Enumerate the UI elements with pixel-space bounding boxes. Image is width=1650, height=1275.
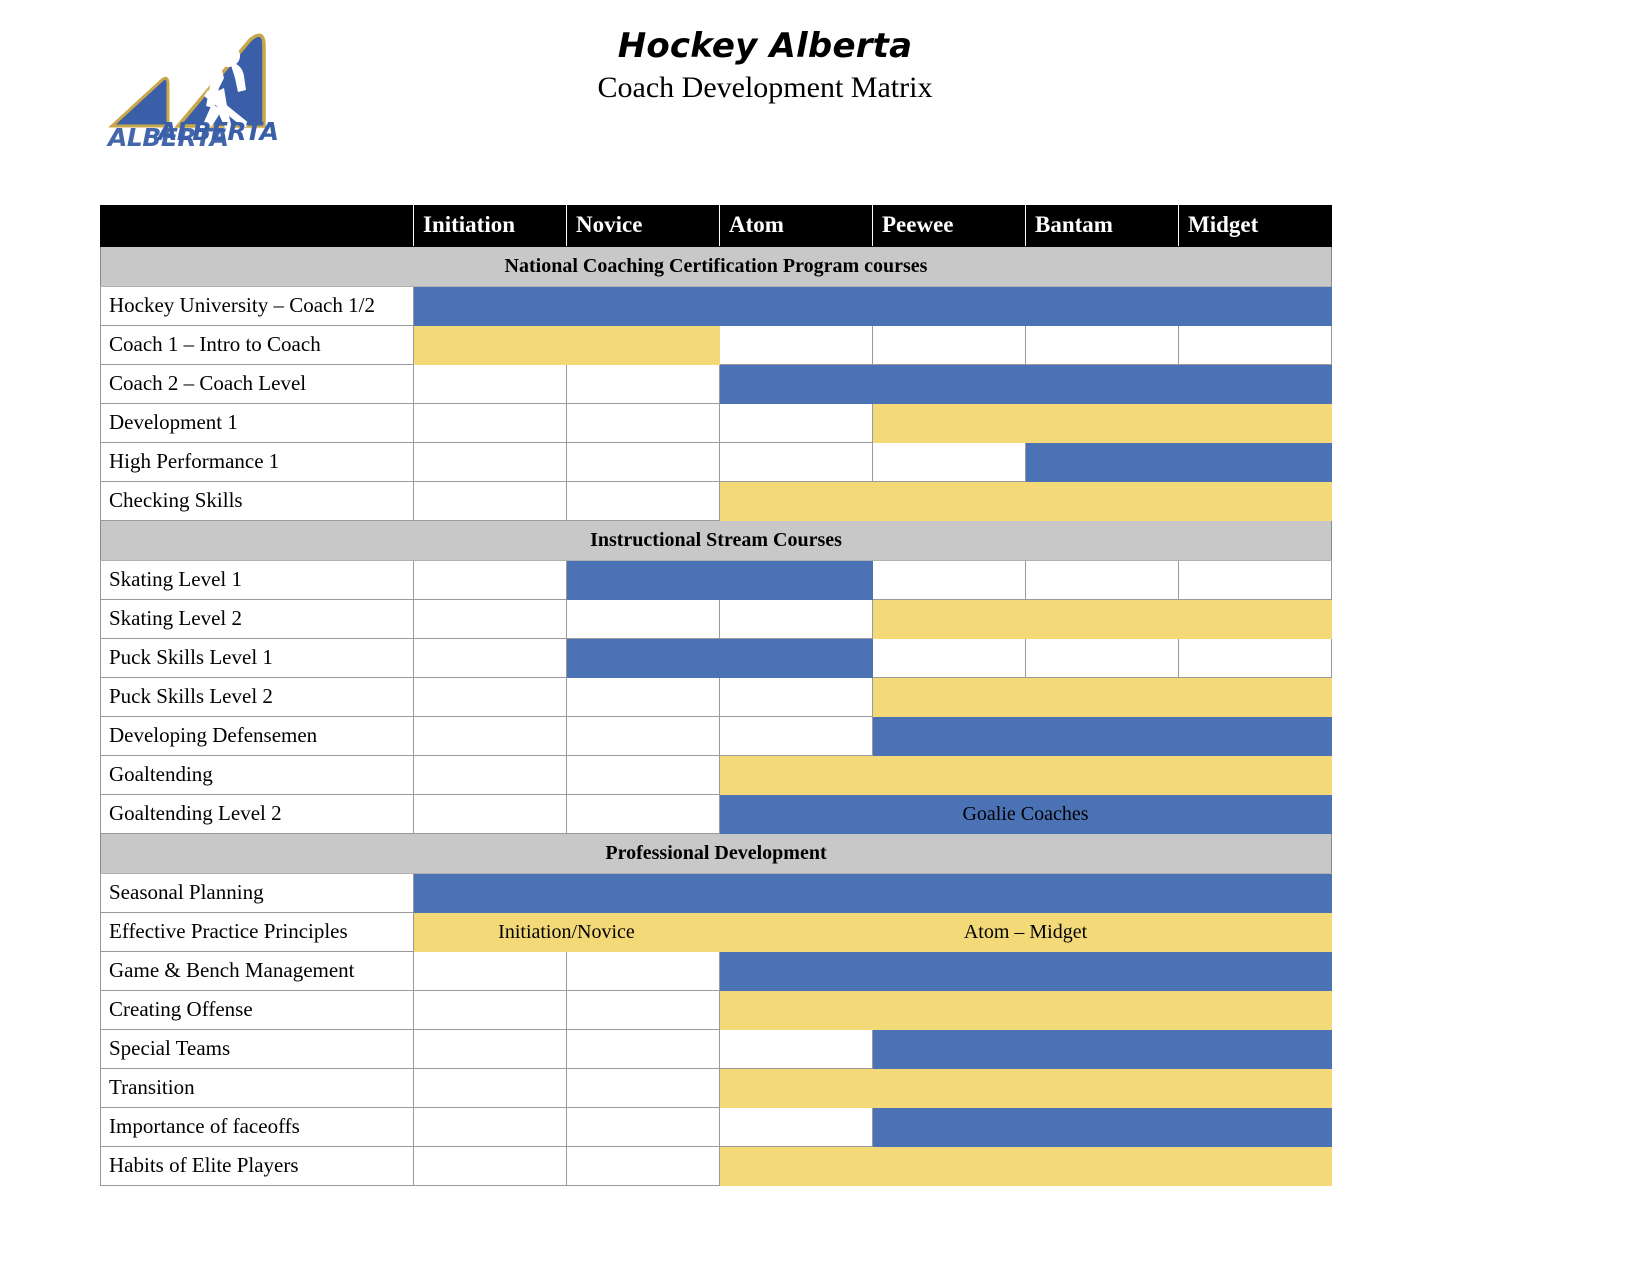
column-header-row: InitiationNoviceAtomPeeweeBantamMidget xyxy=(101,206,1332,247)
coverage-bar-blue xyxy=(720,365,1332,404)
empty-cell xyxy=(414,482,567,521)
coverage-bar-label: Atom – Midget xyxy=(720,921,1331,943)
coverage-bar-blue xyxy=(414,287,1332,326)
coverage-bar-blue xyxy=(567,639,873,678)
empty-cell xyxy=(720,678,873,717)
coverage-bar-yellow: Initiation/Novice xyxy=(414,913,720,952)
coverage-bar-yellow xyxy=(873,404,1332,443)
coverage-bar-yellow xyxy=(873,600,1332,639)
corner-cell xyxy=(101,206,414,247)
empty-cell xyxy=(414,365,567,404)
empty-cell xyxy=(414,1030,567,1069)
section-title: Professional Development xyxy=(101,834,1332,874)
table-row: Transition xyxy=(101,1069,1332,1108)
empty-cell xyxy=(1179,639,1332,678)
coverage-bar-blue xyxy=(873,1030,1332,1069)
empty-cell xyxy=(567,756,720,795)
coach-development-matrix: InitiationNoviceAtomPeeweeBantamMidget N… xyxy=(100,205,1332,1186)
empty-cell xyxy=(567,1147,720,1186)
empty-cell xyxy=(414,795,567,834)
course-label: Goaltending xyxy=(101,756,414,795)
section-header-row: Instructional Stream Courses xyxy=(101,521,1332,561)
empty-cell xyxy=(567,717,720,756)
empty-cell xyxy=(567,482,720,521)
coverage-bar-yellow xyxy=(720,991,1332,1030)
coverage-bar-yellow xyxy=(720,482,1332,521)
column-header-peewee: Peewee xyxy=(873,206,1026,247)
empty-cell xyxy=(414,952,567,991)
table-row: Habits of Elite Players xyxy=(101,1147,1332,1186)
empty-cell xyxy=(720,600,873,639)
course-label: Puck Skills Level 1 xyxy=(101,639,414,678)
section-title: Instructional Stream Courses xyxy=(101,521,1332,561)
coverage-bar-yellow xyxy=(720,756,1332,795)
empty-cell xyxy=(414,639,567,678)
course-label: Skating Level 2 xyxy=(101,600,414,639)
empty-cell xyxy=(720,1108,873,1147)
section-header-row: Professional Development xyxy=(101,834,1332,874)
empty-cell xyxy=(567,678,720,717)
table-row: Goaltending Level 2Goalie Coaches xyxy=(101,795,1332,834)
table-row: Goaltending xyxy=(101,756,1332,795)
matrix-container: InitiationNoviceAtomPeeweeBantamMidget N… xyxy=(100,205,1331,1186)
coverage-bar-yellow xyxy=(414,326,720,365)
course-label: Hockey University – Coach 1/2 xyxy=(101,287,414,326)
table-row: Creating Offense xyxy=(101,991,1332,1030)
empty-cell xyxy=(720,326,873,365)
coverage-bar-blue xyxy=(1026,443,1332,482)
empty-cell xyxy=(414,756,567,795)
coverage-bar-yellow xyxy=(720,1147,1332,1186)
empty-cell xyxy=(873,326,1026,365)
title-block: Hockey Alberta Coach Development Matrix xyxy=(0,26,1530,107)
empty-cell xyxy=(1026,561,1179,600)
empty-cell xyxy=(873,443,1026,482)
course-label: Seasonal Planning xyxy=(101,874,414,913)
course-label: Puck Skills Level 2 xyxy=(101,678,414,717)
table-row: Importance of faceoffs xyxy=(101,1108,1332,1147)
coverage-bar-label: Goalie Coaches xyxy=(720,803,1331,825)
table-row: Puck Skills Level 1 xyxy=(101,639,1332,678)
table-row: Special Teams xyxy=(101,1030,1332,1069)
empty-cell xyxy=(414,1108,567,1147)
section-title: National Coaching Certification Program … xyxy=(101,247,1332,287)
empty-cell xyxy=(567,443,720,482)
table-row: Developing Defensemen xyxy=(101,717,1332,756)
course-label: Goaltending Level 2 xyxy=(101,795,414,834)
coverage-bar-blue xyxy=(873,1108,1332,1147)
empty-cell xyxy=(720,717,873,756)
empty-cell xyxy=(1026,639,1179,678)
table-row: Puck Skills Level 2 xyxy=(101,678,1332,717)
table-row: High Performance 1 xyxy=(101,443,1332,482)
course-label: Transition xyxy=(101,1069,414,1108)
column-header-initiation: Initiation xyxy=(414,206,567,247)
table-row: Development 1 xyxy=(101,404,1332,443)
coverage-bar-blue xyxy=(414,874,1332,913)
course-label: Skating Level 1 xyxy=(101,561,414,600)
coverage-bar-blue xyxy=(873,717,1332,756)
column-header-novice: Novice xyxy=(567,206,720,247)
column-header-bantam: Bantam xyxy=(1026,206,1179,247)
empty-cell xyxy=(1026,326,1179,365)
empty-cell xyxy=(567,1108,720,1147)
course-label: Habits of Elite Players xyxy=(101,1147,414,1186)
column-header-midget: Midget xyxy=(1179,206,1332,247)
course-label: Coach 2 – Coach Level xyxy=(101,365,414,404)
page-header: ALBERTA ALBERTA Hockey Alberta Coach Dev… xyxy=(0,0,1650,160)
table-row: Skating Level 2 xyxy=(101,600,1332,639)
empty-cell xyxy=(414,717,567,756)
course-label: Game & Bench Management xyxy=(101,952,414,991)
empty-cell xyxy=(567,365,720,404)
empty-cell xyxy=(873,561,1026,600)
empty-cell xyxy=(567,1069,720,1108)
empty-cell xyxy=(414,404,567,443)
coverage-bar-blue xyxy=(720,952,1332,991)
coverage-bar-yellow: Atom – Midget xyxy=(720,913,1332,952)
table-row: Effective Practice PrinciplesInitiation/… xyxy=(101,913,1332,952)
coverage-bar-blue: Goalie Coaches xyxy=(720,795,1332,834)
empty-cell xyxy=(414,678,567,717)
course-label: Development 1 xyxy=(101,404,414,443)
empty-cell xyxy=(414,443,567,482)
course-label: High Performance 1 xyxy=(101,443,414,482)
empty-cell xyxy=(720,1030,873,1069)
section-header-row: National Coaching Certification Program … xyxy=(101,247,1332,287)
column-header-atom: Atom xyxy=(720,206,873,247)
empty-cell xyxy=(414,561,567,600)
empty-cell xyxy=(414,1147,567,1186)
empty-cell xyxy=(873,639,1026,678)
empty-cell xyxy=(720,404,873,443)
course-label: Checking Skills xyxy=(101,482,414,521)
table-row: Checking Skills xyxy=(101,482,1332,521)
empty-cell xyxy=(567,1030,720,1069)
course-label: Creating Offense xyxy=(101,991,414,1030)
coverage-bar-blue xyxy=(567,561,873,600)
empty-cell xyxy=(567,600,720,639)
table-row: Skating Level 1 xyxy=(101,561,1332,600)
page-title: Hockey Alberta xyxy=(0,26,1530,66)
empty-cell xyxy=(567,404,720,443)
empty-cell xyxy=(414,1069,567,1108)
course-label: Importance of faceoffs xyxy=(101,1108,414,1147)
coverage-bar-yellow xyxy=(720,1069,1332,1108)
empty-cell xyxy=(1179,561,1332,600)
course-label: Special Teams xyxy=(101,1030,414,1069)
table-row: Coach 2 – Coach Level xyxy=(101,365,1332,404)
empty-cell xyxy=(567,795,720,834)
coverage-bar-label: Initiation/Novice xyxy=(414,921,719,943)
table-row: Coach 1 – Intro to Coach xyxy=(101,326,1332,365)
empty-cell xyxy=(414,991,567,1030)
table-row: Game & Bench Management xyxy=(101,952,1332,991)
course-label: Developing Defensemen xyxy=(101,717,414,756)
empty-cell xyxy=(567,952,720,991)
matrix-body: National Coaching Certification Program … xyxy=(101,247,1332,1186)
svg-text:ALBERTA: ALBERTA xyxy=(106,123,229,148)
matrix-head: InitiationNoviceAtomPeeweeBantamMidget xyxy=(101,206,1332,247)
table-row: Hockey University – Coach 1/2 xyxy=(101,287,1332,326)
empty-cell xyxy=(414,600,567,639)
empty-cell xyxy=(720,443,873,482)
coverage-bar-yellow xyxy=(873,678,1332,717)
empty-cell xyxy=(1179,326,1332,365)
table-row: Seasonal Planning xyxy=(101,874,1332,913)
course-label: Effective Practice Principles xyxy=(101,913,414,952)
empty-cell xyxy=(567,991,720,1030)
course-label: Coach 1 – Intro to Coach xyxy=(101,326,414,365)
page-subtitle: Coach Development Matrix xyxy=(0,69,1530,107)
